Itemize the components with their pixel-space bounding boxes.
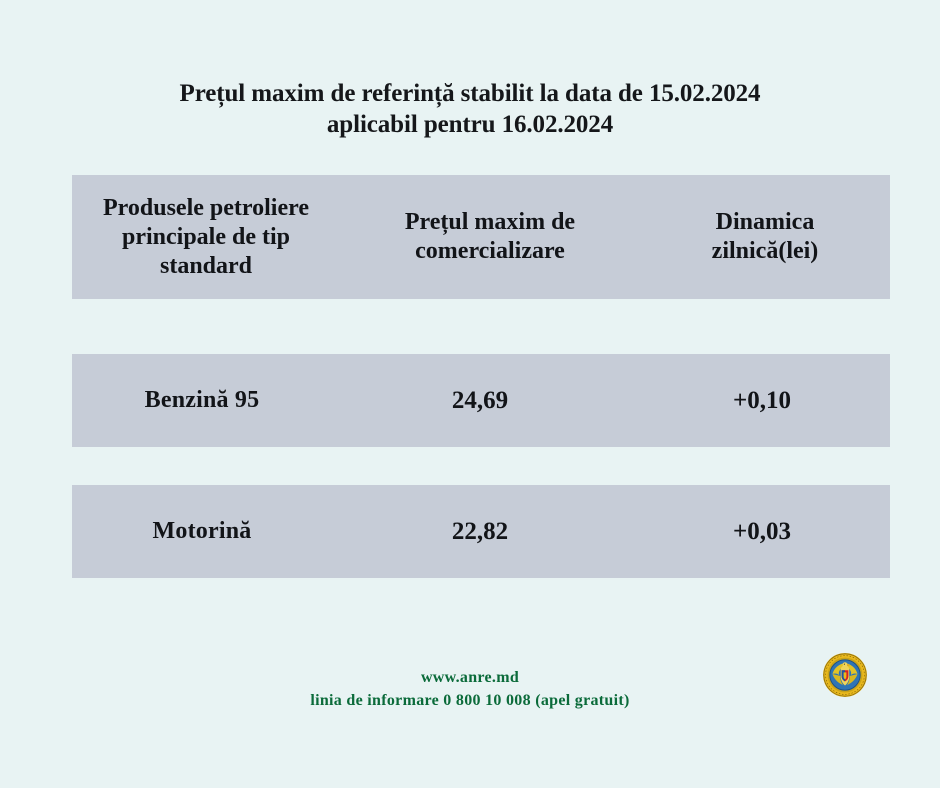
infographic-page: Prețul maxim de referință stabilit la da… — [0, 0, 940, 788]
footer-info-line: linia de informare 0 800 10 008 (apel gr… — [0, 689, 940, 712]
column-header-product: Produsele petroliere principale de tip s… — [72, 194, 340, 281]
page-title-line-2: aplicabil pentru 16.02.2024 — [0, 109, 940, 140]
page-title-line-1: Prețul maxim de referință stabilit la da… — [0, 78, 940, 109]
table-row: Motorină 22,82 +0,03 — [72, 485, 890, 578]
row-max-price: 22,82 — [340, 518, 640, 546]
page-title: Prețul maxim de referință stabilit la da… — [0, 78, 940, 140]
footer-contact-block: www.anre.md linia de informare 0 800 10 … — [0, 666, 940, 712]
row-product-name: Motorină — [72, 518, 340, 545]
fuel-price-table: Produsele petroliere principale de tip s… — [72, 175, 890, 616]
column-header-dynamics: Dinamica zilnică(lei) — [640, 208, 890, 266]
row-daily-dynamics: +0,10 — [640, 387, 890, 415]
column-header-product-line-1: Produsele petroliere — [103, 194, 309, 223]
row-product-name: Benzină 95 — [72, 387, 340, 414]
column-header-product-line-3: standard — [103, 252, 309, 281]
column-header-dynamics-line-2: zilnică(lei) — [712, 237, 819, 266]
column-header-price-line-2: comercializare — [405, 237, 575, 266]
column-header-price-line-1: Prețul maxim de — [405, 208, 575, 237]
column-header-product-line-2: principale de tip — [103, 223, 309, 252]
column-header-dynamics-line-1: Dinamica — [712, 208, 819, 237]
footer-website[interactable]: www.anre.md — [0, 666, 940, 689]
table-header-row: Produsele petroliere principale de tip s… — [72, 175, 890, 299]
column-header-price: Prețul maxim de comercializare — [340, 208, 640, 266]
row-daily-dynamics: +0,03 — [640, 518, 890, 546]
row-max-price: 24,69 — [340, 387, 640, 415]
table-row: Benzină 95 24,69 +0,10 — [72, 354, 890, 447]
anre-emblem-icon — [822, 652, 868, 698]
